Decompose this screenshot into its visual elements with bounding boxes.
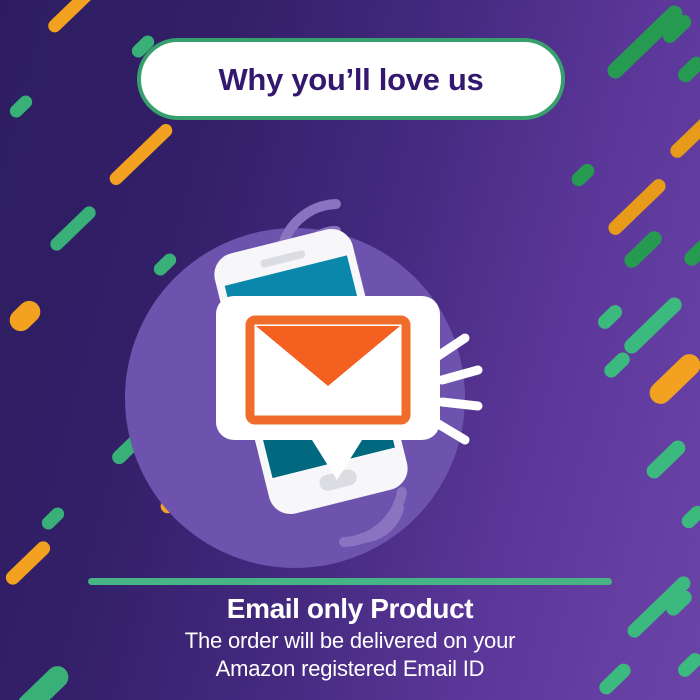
decor-dash xyxy=(46,0,117,35)
decor-dash xyxy=(679,503,700,531)
decor-dash xyxy=(3,539,53,588)
decor-dash xyxy=(644,437,689,481)
footer-caption: Email only Product The order will be del… xyxy=(0,592,700,683)
decor-dash xyxy=(675,54,700,86)
envelope-icon xyxy=(250,320,406,420)
decor-dash xyxy=(39,505,67,532)
decor-dash xyxy=(621,294,685,356)
decor-dash xyxy=(601,350,632,381)
decor-dash xyxy=(645,350,700,409)
decor-dash xyxy=(107,121,175,187)
email-notification-illustration xyxy=(130,190,490,570)
footer-headline: Email only Product xyxy=(0,592,700,625)
section-divider xyxy=(88,578,612,585)
promo-banner: Why you’ll love us Email only Product Th… xyxy=(0,0,700,700)
vibration-arcs-bottom xyxy=(344,492,402,542)
decor-dash xyxy=(48,204,99,254)
decor-dash xyxy=(569,161,597,189)
decor-dash xyxy=(5,296,45,335)
decor-dash xyxy=(681,226,700,269)
page-title: Why you’ll love us xyxy=(218,64,483,95)
title-pill: Why you’ll love us xyxy=(137,38,565,120)
decor-dash xyxy=(595,302,625,332)
decor-dash xyxy=(7,93,35,120)
footer-subline-1: The order will be delivered on your xyxy=(0,627,700,655)
footer-subline-2: Amazon registered Email ID xyxy=(0,655,700,683)
decor-dash xyxy=(621,228,665,271)
decor-dash xyxy=(667,89,700,160)
decor-dash xyxy=(606,176,669,237)
notification-rays xyxy=(435,338,478,440)
